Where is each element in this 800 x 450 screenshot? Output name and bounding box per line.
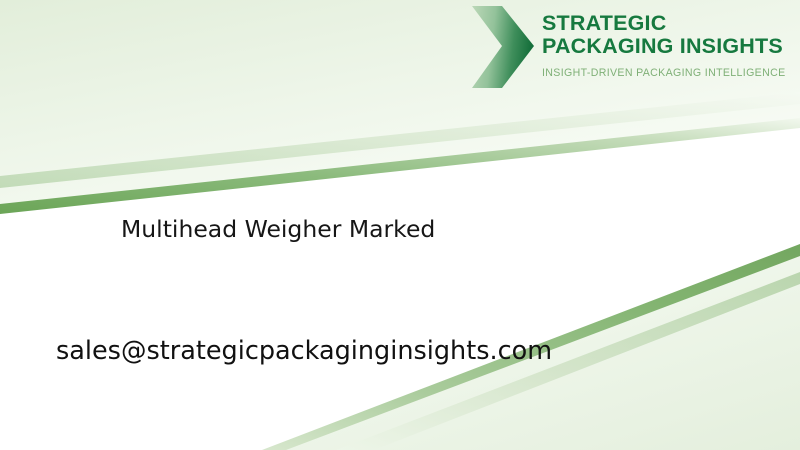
chevron-logo-mark [472, 4, 534, 90]
slide-title: Multihead Weigher Marked [121, 215, 435, 243]
slide-canvas: STRATEGIC PACKAGING INSIGHTS INSIGHT-DRI… [0, 0, 800, 450]
company-name-line-2: PACKAGING INSIGHTS [542, 35, 783, 58]
brand-logo: STRATEGIC PACKAGING INSIGHTS INSIGHT-DRI… [472, 4, 788, 90]
top-left-edge-stripe-secondary [0, 92, 800, 188]
top-left-edge-stripe [0, 118, 800, 214]
brand-logo-text: STRATEGIC PACKAGING INSIGHTS INSIGHT-DRI… [542, 4, 786, 79]
contact-email: sales@strategicpackaginginsights.com [56, 336, 552, 366]
company-tagline: INSIGHT-DRIVEN PACKAGING INTELLIGENCE [542, 67, 786, 79]
company-name-line-1: STRATEGIC [542, 12, 666, 35]
